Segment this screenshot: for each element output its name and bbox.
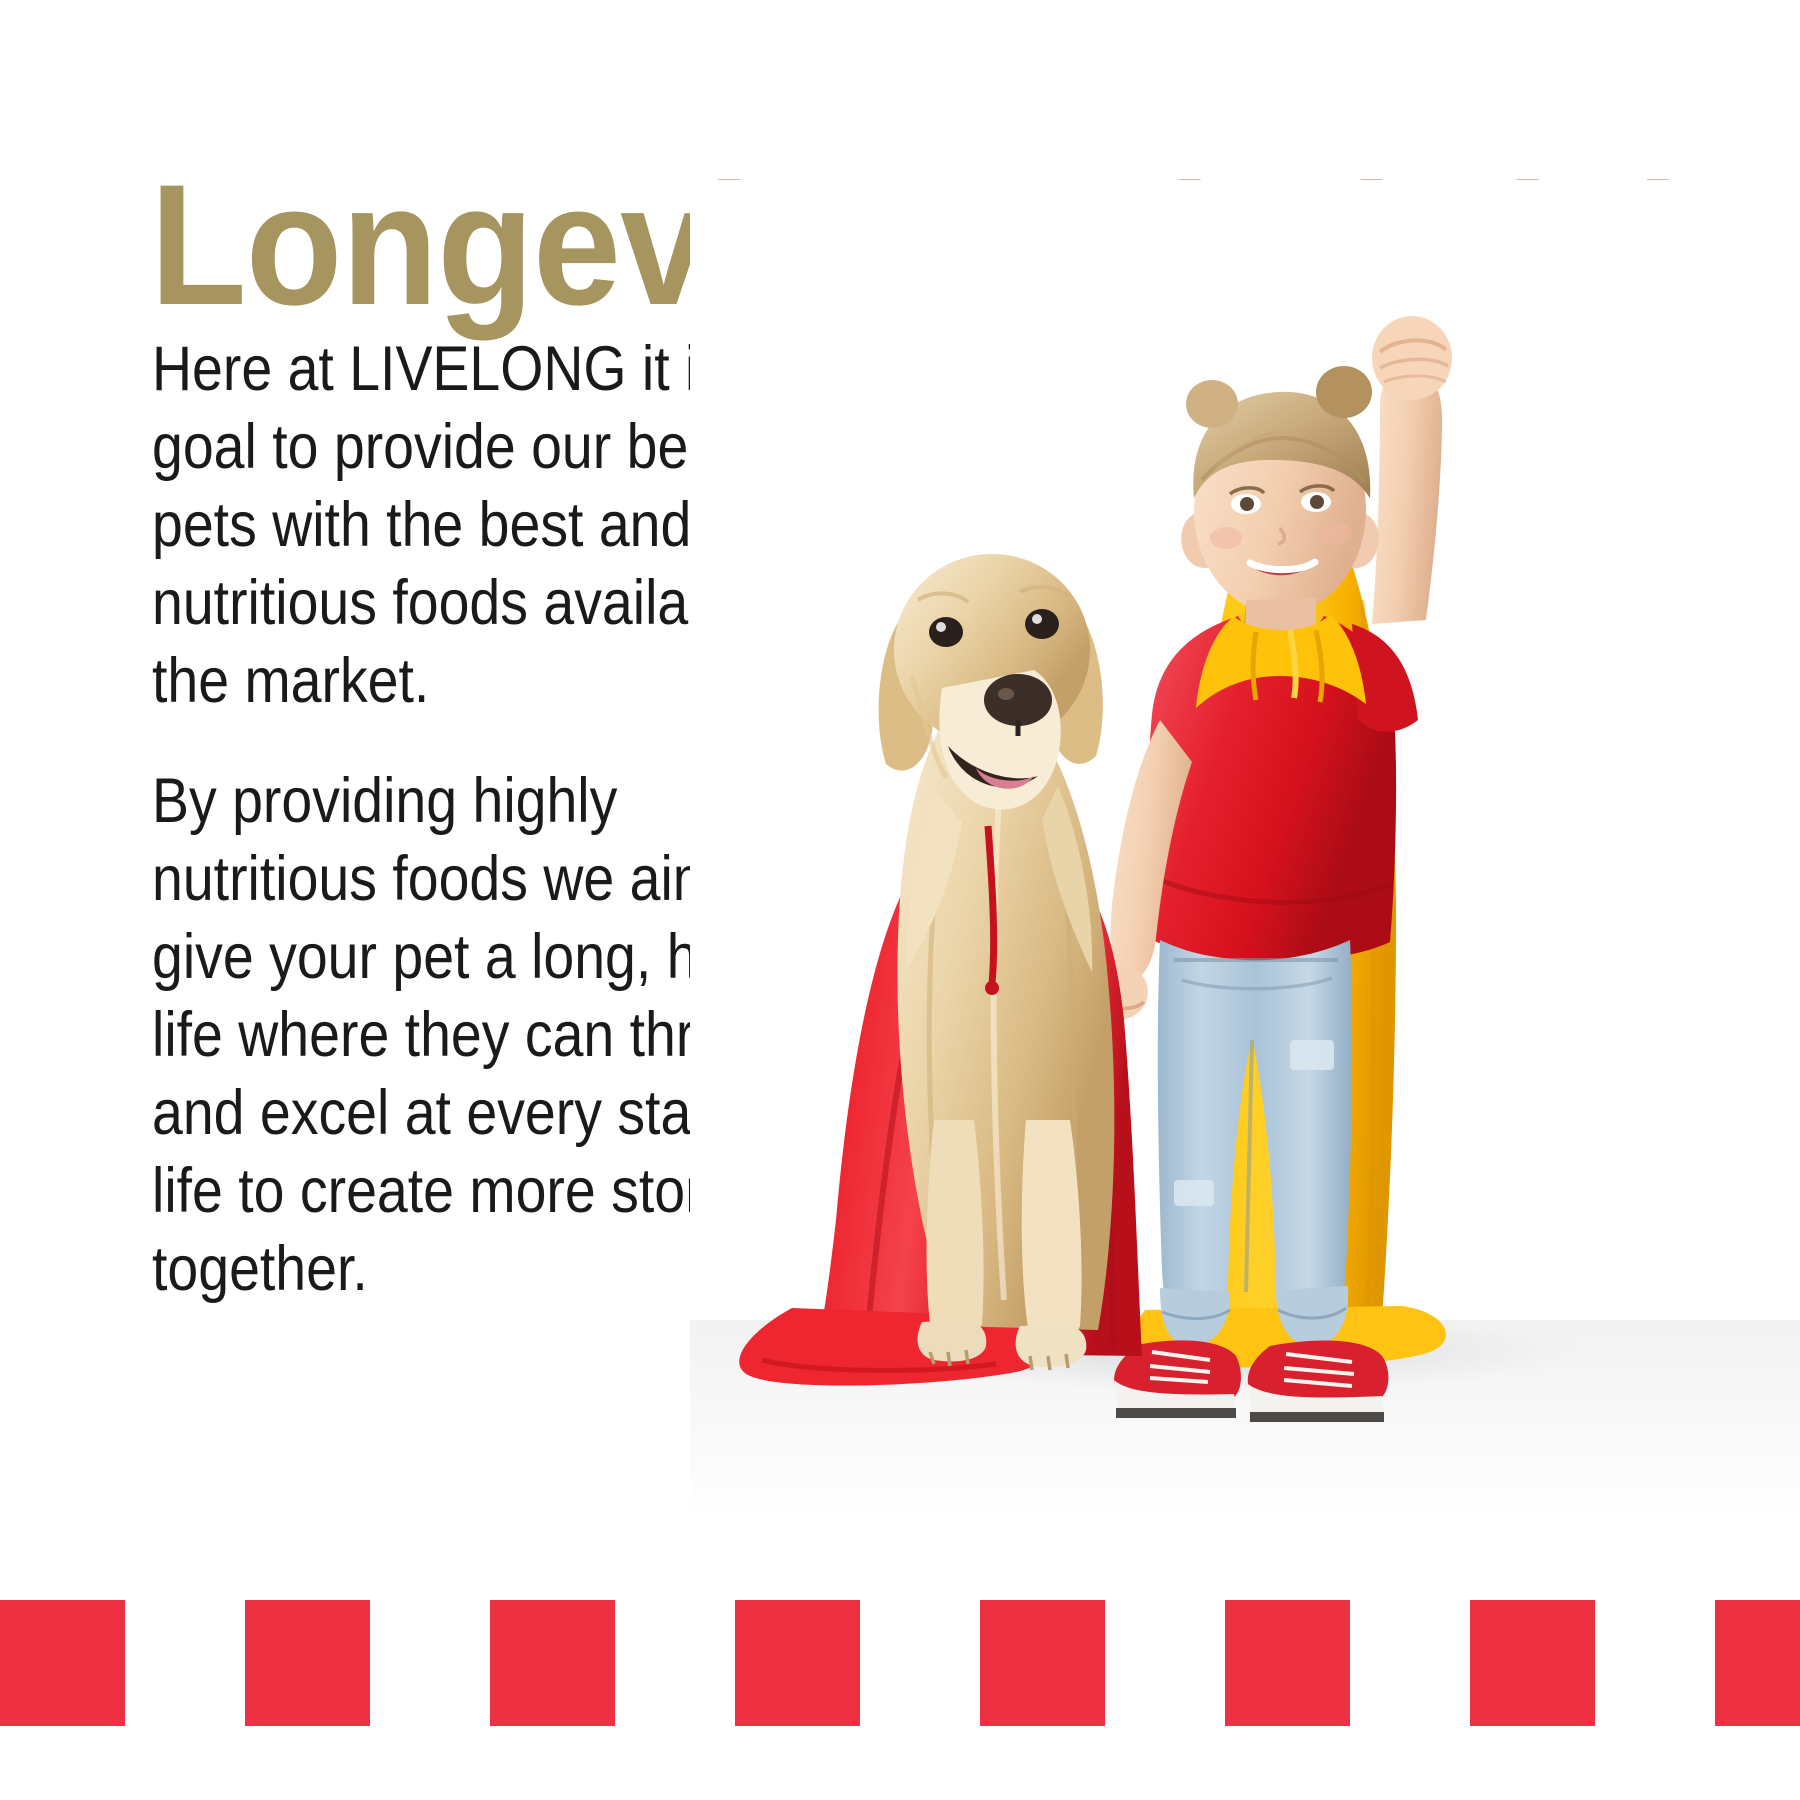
dash-square xyxy=(1470,1600,1595,1726)
hair-bun-right xyxy=(1316,366,1372,418)
dash-square xyxy=(1715,1600,1800,1726)
hair-bun-left xyxy=(1186,380,1238,428)
dash-square xyxy=(980,1600,1105,1726)
dash-square xyxy=(0,1600,125,1726)
hero-photo xyxy=(690,180,1800,1520)
dog-eye-left xyxy=(929,617,963,647)
dog-nose xyxy=(984,674,1052,726)
dog-front-leg-right xyxy=(1022,1120,1082,1338)
bottom-dash-strip xyxy=(0,1600,1800,1726)
dog-paw-left xyxy=(918,1320,987,1361)
sneaker-right xyxy=(1248,1341,1389,1422)
dog-paw-right xyxy=(1016,1324,1087,1367)
dash-square xyxy=(490,1600,615,1726)
dash-square xyxy=(1225,1600,1350,1726)
poster-canvas: Longevity and Thriving Life Here at LIVE… xyxy=(0,0,1800,1800)
dash-square xyxy=(735,1600,860,1726)
dash-square xyxy=(245,1600,370,1726)
dog-front-leg-left xyxy=(927,1120,984,1335)
dog-eye-right xyxy=(1025,609,1059,639)
